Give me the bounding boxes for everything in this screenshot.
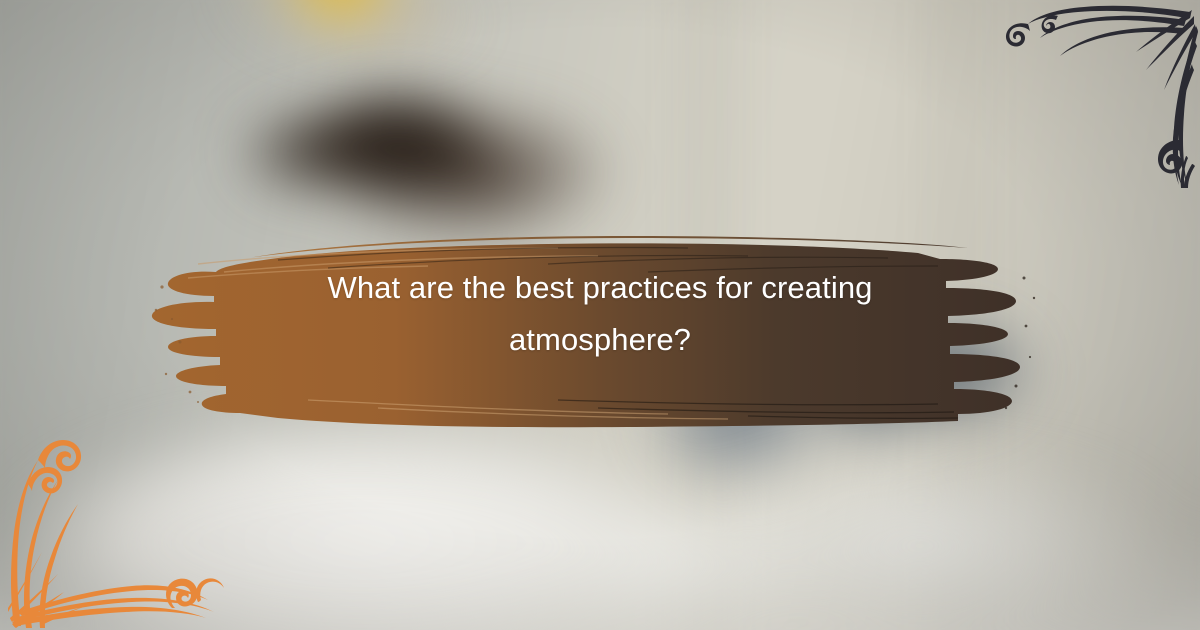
banner-heading: What are the best practices for creating… bbox=[150, 186, 1050, 442]
heading-line-1: What are the best practices for creating bbox=[327, 262, 872, 314]
share-card: What are the best practices for creating… bbox=[0, 0, 1200, 630]
heading-line-2: atmosphere? bbox=[509, 314, 691, 366]
